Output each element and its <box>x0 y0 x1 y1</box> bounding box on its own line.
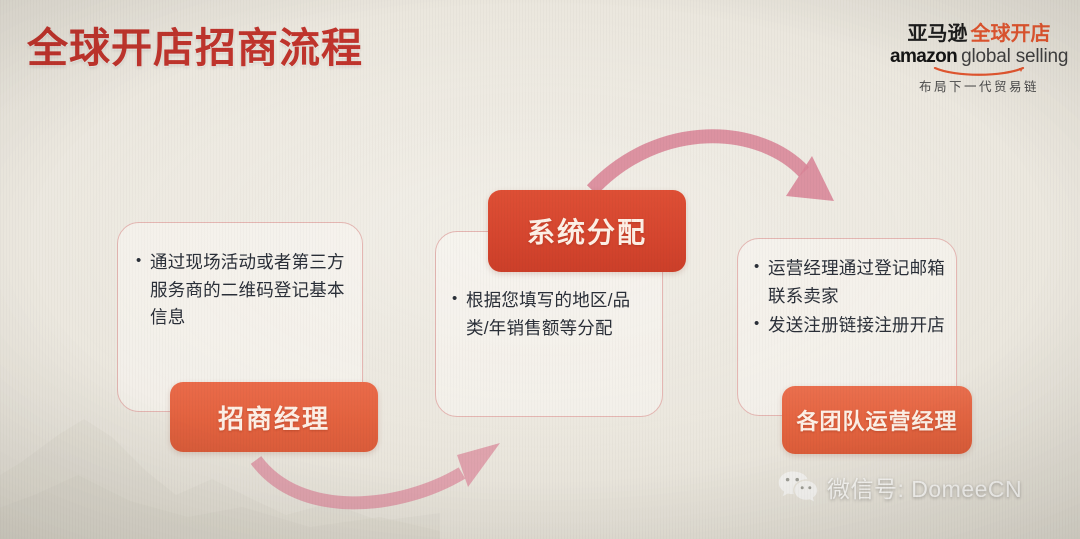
list-item: 发送注册链接注册开店 <box>754 312 946 340</box>
list-item: 根据您填写的地区/品类/年销售额等分配 <box>452 287 650 342</box>
logo-tagline: 布局下一代贸易链 <box>890 81 1068 94</box>
logo-amazon-cn: 亚马逊 <box>908 23 968 45</box>
amazon-smile-icon <box>933 67 1025 76</box>
wechat-watermark-text: 微信号: DomeeCN <box>827 470 1022 504</box>
role-badge-recruitment-manager: 招商经理 <box>170 382 378 452</box>
wechat-watermark: 微信号: DomeeCN <box>778 470 1022 504</box>
flow-card-step-3-bullets: 运营经理通过登记邮箱联系卖家 发送注册链接注册开店 <box>738 239 956 340</box>
slide-canvas: 全球开店招商流程 亚马逊全球开店 amazonglobal selling 布局… <box>0 0 1080 539</box>
wechat-icon <box>778 470 818 504</box>
page-title: 全球开店招商流程 <box>27 14 363 74</box>
list-item: 运营经理通过登记邮箱联系卖家 <box>754 255 946 310</box>
logo-english-line: amazonglobal selling <box>890 47 1068 66</box>
logo-global-selling-wordmark: global selling <box>961 46 1068 67</box>
flow-card-step-1-bullets: 通过现场活动或者第三方服务商的二维码登记基本信息 <box>118 223 362 332</box>
logo-amazon-wordmark: amazon <box>890 46 957 67</box>
role-badge-system-allocation: 系统分配 <box>488 190 686 272</box>
logo-chinese-line: 亚马逊全球开店 <box>890 24 1068 44</box>
amazon-global-selling-logo: 亚马逊全球开店 amazonglobal selling 布局下一代贸易链 <box>890 24 1068 94</box>
list-item: 通过现场活动或者第三方服务商的二维码登记基本信息 <box>136 249 346 332</box>
role-badge-team-operations-manager: 各团队运营经理 <box>782 386 972 454</box>
logo-global-selling-cn: 全球开店 <box>971 23 1051 45</box>
